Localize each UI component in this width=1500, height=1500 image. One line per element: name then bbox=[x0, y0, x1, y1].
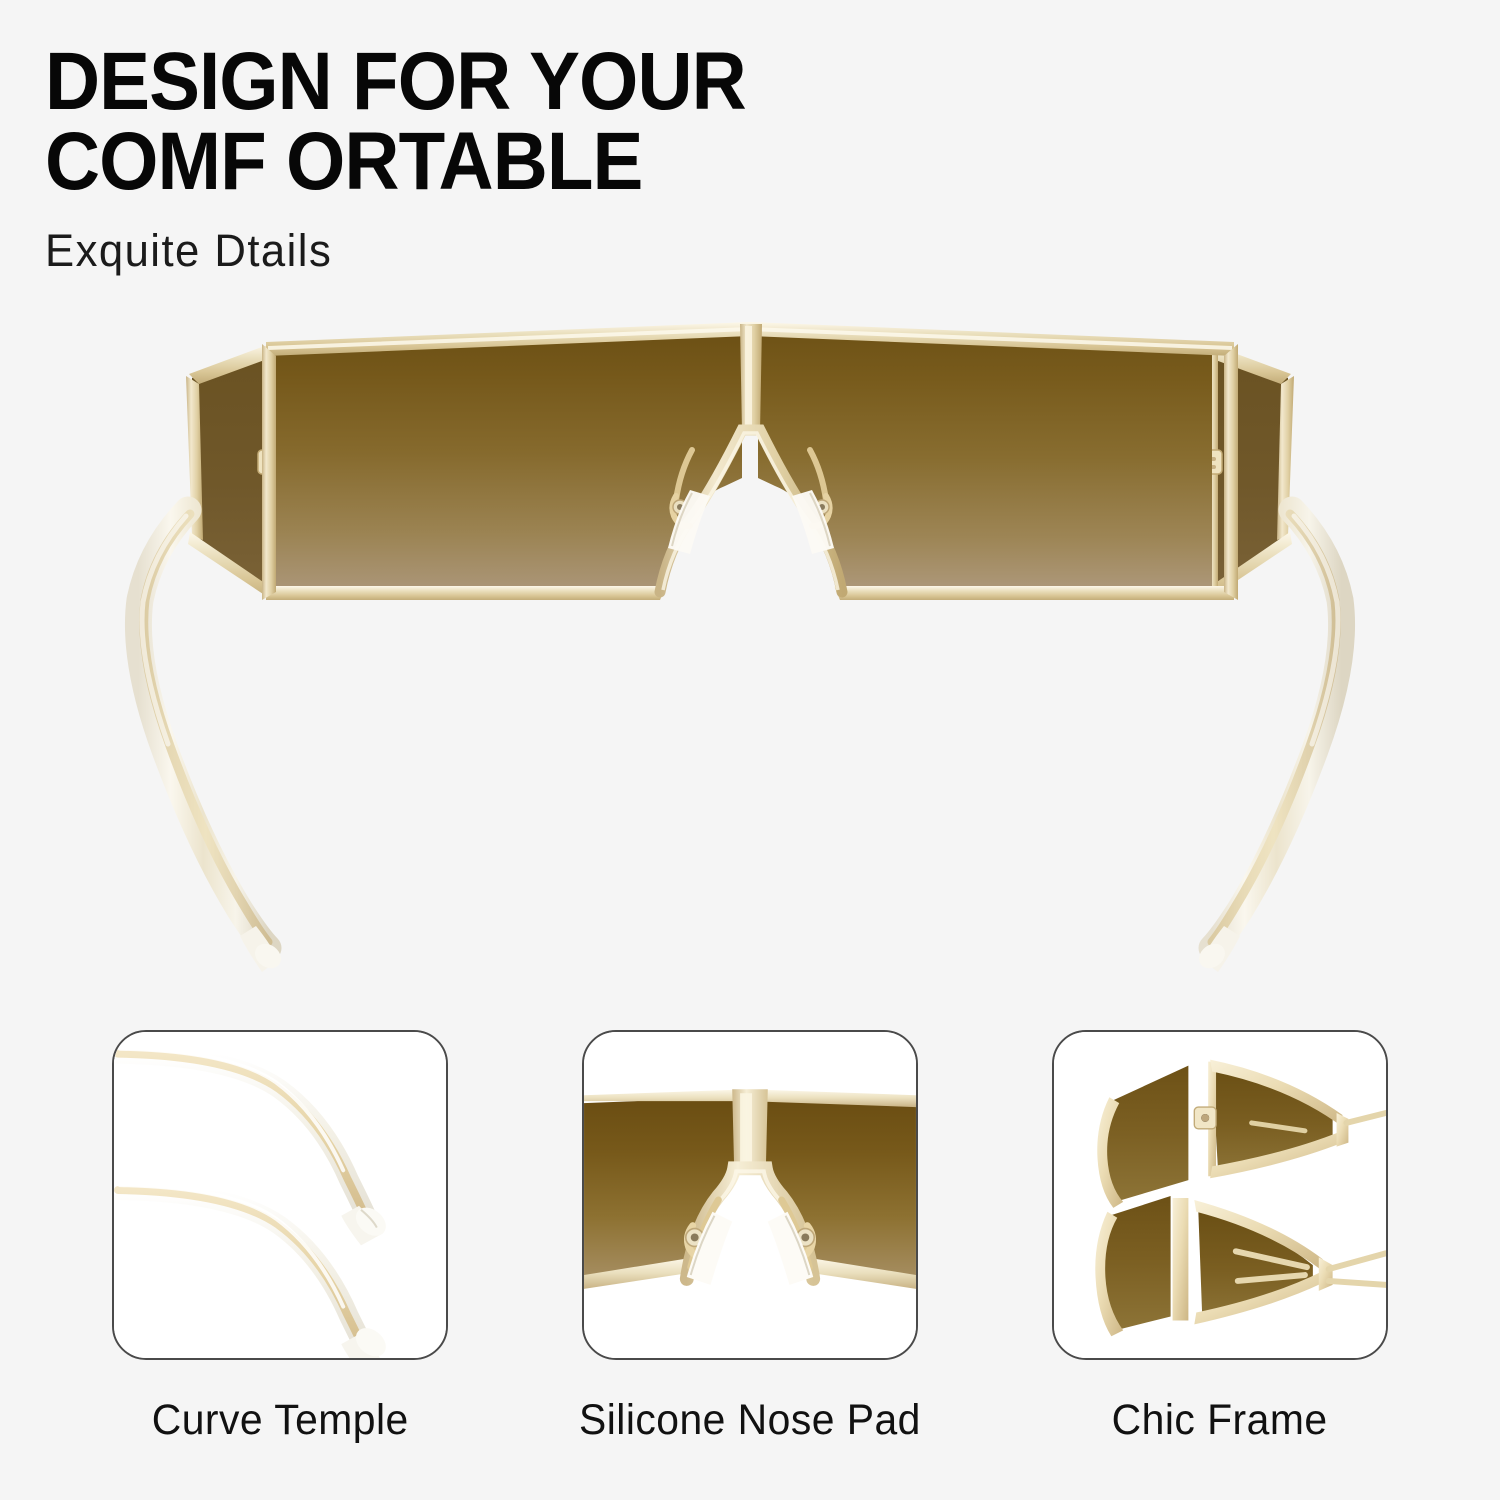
detail-card-curve-temple: Curve Temple bbox=[110, 1030, 450, 1450]
nose-pad-closeup-illustration bbox=[584, 1032, 916, 1358]
detail-card-chic-frame: Chic Frame bbox=[1050, 1030, 1390, 1450]
chic-frame-card-image bbox=[1052, 1030, 1388, 1360]
card-caption-curve-temple: Curve Temple bbox=[152, 1396, 409, 1445]
hero-product-image bbox=[0, 300, 1500, 990]
card-caption-silicone-nose-pad: Silicone Nose Pad bbox=[579, 1396, 921, 1445]
nose-pad-card-image bbox=[582, 1030, 918, 1360]
card-caption-chic-frame: Chic Frame bbox=[1112, 1396, 1328, 1445]
detail-card-silicone-nose-pad: Silicone Nose Pad bbox=[580, 1030, 920, 1450]
header: DESIGN FOR YOUR COMF ORTABLE Exquite Dta… bbox=[45, 42, 1045, 277]
product-feature-page: DESIGN FOR YOUR COMF ORTABLE Exquite Dta… bbox=[0, 0, 1500, 1500]
detail-cards-row: Curve Temple bbox=[0, 1030, 1500, 1450]
curve-temple-card-image bbox=[112, 1030, 448, 1360]
chic-frame-closeup-illustration bbox=[1054, 1032, 1386, 1358]
curve-temple-closeup-illustration bbox=[114, 1032, 446, 1358]
sunglasses-illustration bbox=[0, 300, 1500, 990]
page-title: DESIGN FOR YOUR COMF ORTABLE bbox=[45, 42, 975, 203]
page-subtitle: Exquite Dtails bbox=[45, 225, 1015, 277]
